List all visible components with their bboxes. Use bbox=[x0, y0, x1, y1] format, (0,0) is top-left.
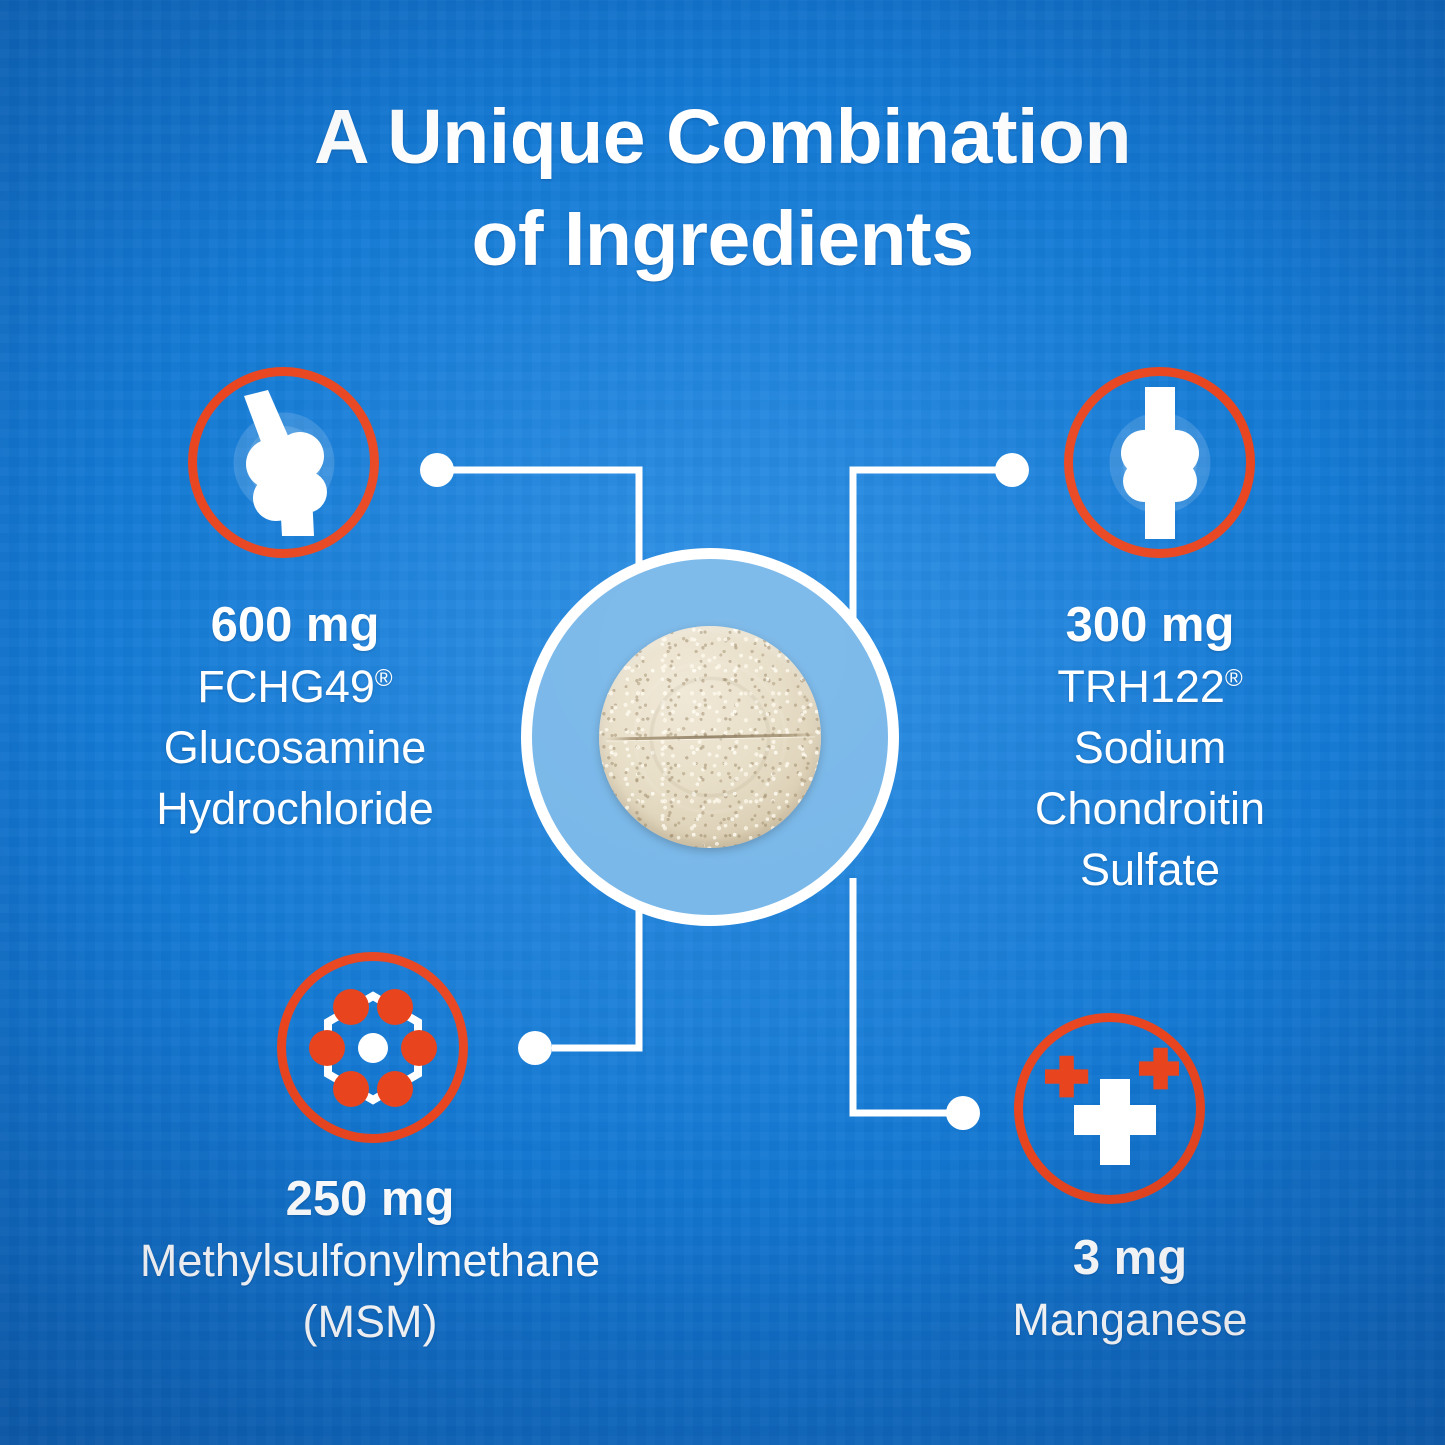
infographic-canvas: A Unique Combination of Ingredients bbox=[0, 0, 1445, 1445]
connector-dot-top-left bbox=[420, 453, 454, 487]
connector-dot-bottom-right bbox=[946, 1096, 980, 1130]
ingredient-line: Methylsulfonylmethane bbox=[60, 1230, 680, 1291]
ingredient-line: FCHG49® bbox=[40, 656, 550, 717]
icon-badge-manganese[interactable] bbox=[1014, 1013, 1205, 1204]
ingredient-line: Manganese bbox=[880, 1289, 1380, 1350]
straight-joint-icon bbox=[1110, 387, 1210, 539]
ingredient-line: Chondroitin bbox=[895, 778, 1405, 839]
ingredient-line: TRH122® bbox=[895, 656, 1405, 717]
tablet-pill-icon bbox=[599, 626, 821, 848]
icon-badge-msm[interactable] bbox=[277, 952, 468, 1143]
ingredient-line: Glucosamine bbox=[40, 717, 550, 778]
ingredient-label-msm: 250 mg Methylsulfonylmethane (MSM) bbox=[60, 1168, 680, 1352]
icon-badge-chondroitin[interactable] bbox=[1064, 367, 1255, 558]
icon-badge-glucosamine[interactable] bbox=[188, 367, 379, 558]
center-tablet-medallion bbox=[521, 548, 899, 926]
ingredient-amount: 3 mg bbox=[880, 1227, 1380, 1289]
ingredient-label-chondroitin: 300 mg TRH122® Sodium Chondroitin Sulfat… bbox=[895, 594, 1405, 900]
ingredient-label-glucosamine: 600 mg FCHG49® Glucosamine Hydrochloride bbox=[40, 594, 550, 839]
ingredient-line: Hydrochloride bbox=[40, 778, 550, 839]
molecule-icon bbox=[307, 982, 439, 1114]
connector-dot-top-right bbox=[995, 453, 1029, 487]
ingredient-amount: 250 mg bbox=[60, 1168, 680, 1230]
bent-knee-joint-icon bbox=[226, 388, 342, 538]
ingredient-amount: 300 mg bbox=[895, 594, 1405, 656]
medical-cross-icon bbox=[1041, 1043, 1179, 1175]
ingredient-line: Sulfate bbox=[895, 839, 1405, 900]
ingredient-amount: 600 mg bbox=[40, 594, 550, 656]
ingredient-label-manganese: 3 mg Manganese bbox=[880, 1227, 1380, 1350]
connector-dot-bottom-left bbox=[518, 1031, 552, 1065]
ingredient-line: Sodium bbox=[895, 717, 1405, 778]
ingredient-line: (MSM) bbox=[60, 1291, 680, 1352]
